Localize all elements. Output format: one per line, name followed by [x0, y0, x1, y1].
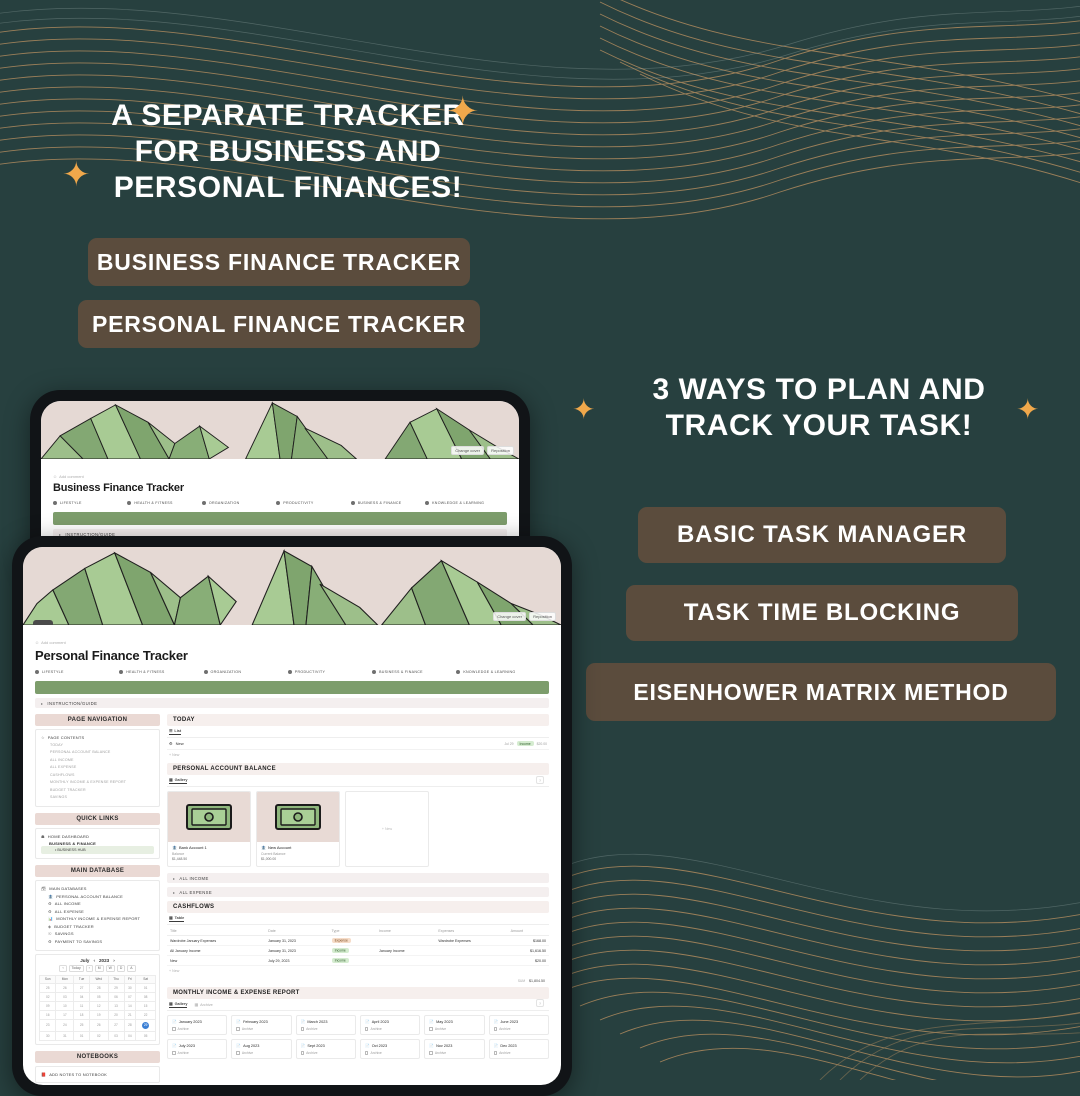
comment-icon: ☺ [53, 474, 57, 479]
checkbox-icon[interactable] [494, 1027, 498, 1031]
cal-view-week[interactable]: W [106, 965, 115, 972]
db-link-monthly-report[interactable]: 📊 MONTHLY INCOME & EXPENSE REPORT [41, 915, 154, 923]
cell-amount: $168.00 [508, 936, 549, 946]
month-report-card-title: 📄May 2023 [429, 1019, 479, 1024]
month-report-card-title: 📄July 2023 [172, 1043, 222, 1048]
calendar-day-cell[interactable]: 29 [136, 1019, 156, 1031]
calendar-day-cell[interactable]: 14 [124, 1001, 136, 1010]
quick-link-home-dashboard[interactable]: ☗ HOME DASHBOARD [41, 833, 154, 841]
bullet-icon [202, 501, 206, 505]
section-header-today: TODAY [167, 714, 549, 726]
topnav-item[interactable]: HEALTH & FITNESS [127, 501, 201, 505]
bullet-icon [119, 670, 123, 674]
table-row[interactable]: All January Income January 31, 2023 Inco… [167, 946, 549, 956]
month-report-card[interactable]: 📄April 2023Archive [360, 1015, 420, 1035]
topnav-item[interactable]: ORGANIZATION [202, 501, 276, 505]
money-icon [257, 792, 339, 842]
document-icon: 📄 [494, 1043, 499, 1048]
weekday-wed: Wed [89, 975, 108, 983]
list-icon: ☰ [169, 728, 172, 733]
document-icon: 📄 [172, 1043, 177, 1048]
calendar-week-row: 02030405060708 [40, 992, 156, 1001]
cover-image-business: Change cover Reposition [41, 401, 519, 459]
calendar-day-cell[interactable]: 01 [136, 983, 156, 992]
month-report-card[interactable]: 📄July 2023Archive [167, 1039, 227, 1059]
today-row-tag: Income [517, 741, 534, 746]
cashflows-sum: SUM $1,804.50 [167, 976, 549, 983]
checkbox-icon[interactable] [301, 1027, 305, 1031]
account-card-title-row: 🏦 New Account [261, 845, 335, 850]
calendar-day-cell[interactable]: 26 [56, 983, 74, 992]
db-link-all-income[interactable]: ♻ ALL INCOME [41, 900, 154, 908]
cell-title: All January Income [167, 946, 265, 956]
calendar-day-cell[interactable]: 19 [89, 1010, 108, 1019]
calendar-day-cell[interactable]: 27 [74, 983, 90, 992]
document-icon: 📄 [236, 1019, 241, 1024]
cover-tools-business[interactable]: Change cover Reposition [451, 446, 514, 455]
chevron-right-icon: ▸ [41, 701, 43, 706]
cell-income [376, 936, 435, 946]
checkbox-icon[interactable] [365, 1051, 369, 1055]
cal-view-month[interactable]: M [95, 965, 104, 972]
transfer-icon: ♻ [48, 938, 52, 946]
month-report-card-title: 📄January 2023 [172, 1019, 222, 1024]
topnav-item-productivity[interactable]: PRODUCTIVITY [288, 670, 372, 674]
cell-expenses [435, 956, 507, 966]
instruction-guide-toggle-personal[interactable]: ▸ INSTRUCTION/GUIDE [35, 698, 549, 708]
calendar-day-cell[interactable]: 02 [89, 1031, 108, 1040]
quick-link-business-finance[interactable]: BUSINESS & FINANCE [41, 841, 154, 846]
topnav-personal[interactable]: LIFESTYLE HEALTH & FITNESS ORGANIZATION … [35, 670, 549, 674]
cal-today[interactable]: Today [69, 965, 84, 972]
quick-links-card: ☗ HOME DASHBOARD BUSINESS & FINANCE • BU… [35, 828, 160, 859]
sparkle-icon: ✦ [1016, 396, 1039, 424]
topnav-business[interactable]: LIFESTYLE HEALTH & FITNESS ORGANIZATION … [53, 501, 507, 505]
bullet-icon [288, 670, 292, 674]
col-expenses[interactable]: Expenses [435, 927, 507, 936]
document-icon: 📄 [301, 1019, 306, 1024]
document-icon: 📄 [365, 1019, 370, 1024]
document-icon: 📄 [365, 1043, 370, 1048]
notebooks-card: 📕 ADD NOTES TO NOTEBOOK [35, 1066, 160, 1084]
page-icon: ⚙ [169, 741, 173, 746]
page-link-budget-tracker[interactable]: BUDGET TRACKER [41, 787, 154, 795]
calendar-day-cell[interactable]: 15 [136, 1001, 156, 1010]
col-amount[interactable]: Amount [508, 927, 549, 936]
view-tab-table[interactable]: ▦ Table [169, 915, 184, 922]
account-balance-gallery: 🏦 Bank Account 1 Balance $1,448.50 [167, 787, 549, 869]
pill-business-finance-tracker[interactable]: BUSINESS FINANCE TRACKER [88, 238, 470, 286]
headline-right: 3 WAYS TO PLAN AND TRACK YOUR TASK! [604, 372, 1034, 444]
db-link-personal-account-balance[interactable]: 🏦 PERSONAL ACCOUNT BALANCE [41, 893, 154, 901]
col-type[interactable]: Type [329, 927, 376, 936]
account-card-value: $1,448.50 [172, 857, 246, 861]
month-report-card[interactable]: 📄Nov 2023Archive [424, 1039, 484, 1059]
calendar-day-cell[interactable]: 26 [89, 1019, 108, 1031]
weekday-tue: Tue [74, 975, 90, 983]
db-link-budget-tracker[interactable]: ◈ BUDGET TRACKER [41, 923, 154, 931]
calendar-day-cell[interactable]: 08 [136, 992, 156, 1001]
section-header-monthly-report: MONTHLY INCOME & EXPENSE REPORT [167, 987, 549, 999]
cal-next[interactable]: › [86, 965, 93, 972]
sum-value: $1,804.50 [529, 979, 545, 983]
calendar-day-cell[interactable]: 09 [40, 1001, 56, 1010]
month-report-card[interactable]: 📄Dec 2023Archive [489, 1039, 549, 1059]
weekday-thu: Thu [108, 975, 124, 983]
calendar-day-cell[interactable]: 05 [89, 992, 108, 1001]
month-report-archive-checkbox[interactable]: Archive [429, 1027, 479, 1031]
table-row[interactable]: New July 29, 2023 Income $20.00 [167, 956, 549, 966]
table-icon: ▦ [169, 915, 173, 920]
archive-icon: ▦ [194, 1002, 198, 1007]
account-card-value: $1,000.00 [261, 857, 335, 861]
bank-icon: 🏦 [261, 845, 266, 850]
cell-date: January 31, 2023 [265, 936, 329, 946]
page-link-monthly-report[interactable]: MONTHLY INCOME & EXPENSE REPORT [41, 779, 154, 787]
notebooks-header: NOTEBOOKS [35, 1051, 160, 1063]
topnav-item-knowledge-learning[interactable]: KNOWLEDGE & LEARNING [456, 670, 549, 674]
account-card[interactable]: 🏦 New Account Current Balance $1,000.00 [256, 791, 340, 867]
topnav-item-business-finance[interactable]: BUSINESS & FINANCE [372, 670, 456, 674]
bullet-icon [456, 670, 460, 674]
calendar-day-cell[interactable]: 31 [56, 1031, 74, 1040]
calendar-day-cell[interactable]: 28 [89, 983, 108, 992]
calendar-day-cell[interactable]: 13 [108, 1001, 124, 1010]
month-report-card-title: 📄February 2023 [236, 1019, 286, 1024]
checkbox-icon[interactable] [365, 1027, 369, 1031]
today-row[interactable]: ⚙ New Jul 29 Income $20.00 [167, 738, 549, 750]
view-tabs-today[interactable]: ☰ List [167, 728, 549, 738]
checkbox-icon[interactable] [236, 1051, 240, 1055]
calendar-day-cell[interactable]: 24 [56, 1019, 74, 1031]
cell-type: Expense [329, 936, 376, 946]
month-report-card[interactable]: 📄May 2023Archive [424, 1015, 484, 1035]
help-button[interactable]: ? [536, 999, 544, 1007]
calendar-controls[interactable]: ‹ Today › M W D A [39, 965, 156, 972]
document-icon: 📄 [301, 1043, 306, 1048]
calendar-day-cell[interactable]: 05 [136, 1031, 156, 1040]
cell-type: Income [329, 956, 376, 966]
month-report-archive-checkbox[interactable]: Archive [172, 1051, 222, 1055]
db-link-payment-to-savings[interactable]: ♻ PAYMENT TO SAVINGS [41, 938, 154, 946]
month-report-card[interactable]: 📄Aug 2023Archive [231, 1039, 291, 1059]
month-report-card[interactable]: 📄Oct 2023Archive [360, 1039, 420, 1059]
calendar-day-cell[interactable]: 12 [89, 1001, 108, 1010]
bullet-icon [35, 670, 39, 674]
cal-prev[interactable]: ‹ [59, 965, 66, 972]
reposition-button[interactable]: Reposition [529, 612, 556, 621]
account-card-title-row: 🏦 Bank Account 1 [172, 845, 246, 850]
calendar-day-cell[interactable]: 03 [108, 1031, 124, 1040]
col-title[interactable]: Title [167, 927, 265, 936]
page-link-all-expense[interactable]: ALL EXPENSE [41, 764, 154, 772]
cal-view-agenda[interactable]: A [127, 965, 135, 972]
table-row[interactable]: Wardrobe January Expenses January 31, 20… [167, 936, 549, 946]
view-tabs-account-balance[interactable]: ▦ Gallery ? [167, 777, 549, 787]
database-icon: 🗃 [41, 885, 46, 893]
weekday-sat: Sat [136, 975, 156, 983]
calendar-week-row: 16171819202122 [40, 1010, 156, 1019]
month-report-archive-checkbox[interactable]: Archive [365, 1027, 415, 1031]
cell-expenses [435, 946, 507, 956]
page-link-personal-account-balance[interactable]: PERSONAL ACCOUNT BALANCE [41, 749, 154, 757]
calendar-day-cell[interactable]: 23 [40, 1019, 56, 1031]
calendar-day-cell[interactable]: 02 [40, 992, 56, 1001]
month-report-card[interactable]: 📄June 2023Archive [489, 1015, 549, 1035]
green-divider-bar [35, 681, 549, 694]
view-tab-gallery[interactable]: ▦ Gallery [169, 777, 187, 784]
month-report-archive-checkbox[interactable]: Archive [301, 1051, 351, 1055]
bullet-icon [127, 501, 131, 505]
db-link-savings[interactable]: ☉ SAVINGS [41, 930, 154, 938]
sparkle-icon: ✦ [446, 92, 480, 132]
month-report-card-title: 📄Nov 2023 [429, 1043, 479, 1048]
sparkle-icon: ✦ [572, 396, 595, 424]
calendar-next-button[interactable]: › [113, 958, 115, 963]
today-row-amount: $20.00 [537, 742, 547, 746]
db-link-all-expense[interactable]: ♻ ALL EXPENSE [41, 908, 154, 916]
calendar-day-cell[interactable]: 10 [56, 1001, 74, 1010]
bullet-icon [276, 501, 280, 505]
home-icon: ☗ [41, 833, 45, 841]
calendar-day-cell[interactable]: 17 [56, 1010, 74, 1019]
page-link-cashflows[interactable]: CASHFLOWS [41, 772, 154, 780]
calendar-day-cell[interactable]: 01 [74, 1031, 90, 1040]
notebook-icon: 📕 [41, 1071, 46, 1079]
month-report-card[interactable]: 📄March 2023Archive [296, 1015, 356, 1035]
tablet-mockup-personal: Change cover Reposition ☺ Add comment Pe… [12, 536, 572, 1096]
gallery-icon: ▦ [169, 777, 173, 782]
topnav-item-health-fitness[interactable]: HEALTH & FITNESS [119, 670, 203, 674]
main-content: TODAY ☰ List ⚙ New Jul 29 In [167, 714, 549, 1083]
calendar-day-cell[interactable]: 20 [108, 1010, 124, 1019]
bullet-icon [204, 670, 208, 674]
bullet-icon [372, 670, 376, 674]
calendar-day-cell[interactable]: 29 [108, 983, 124, 992]
month-report-archive-checkbox[interactable]: Archive [494, 1051, 544, 1055]
calendar-day-cell[interactable]: 07 [124, 992, 136, 1001]
topnav-item[interactable]: LIFESTYLE [53, 501, 127, 505]
toggle-all-income[interactable]: ▸ ALL INCOME [167, 873, 549, 883]
calendar-month: July [80, 958, 89, 963]
calendar-day-cell[interactable]: 28 [124, 1019, 136, 1031]
bullet-icon [53, 501, 57, 505]
account-card[interactable]: 🏦 Bank Account 1 Balance $1,448.50 [167, 791, 251, 867]
sum-label: SUM [518, 979, 525, 983]
bank-icon: 🏦 [48, 893, 53, 901]
calendar-week-row: 23242526272829 [40, 1019, 156, 1031]
section-header-cashflows: CASHFLOWS [167, 901, 549, 913]
topnav-item[interactable]: KNOWLEDGE & LEARNING [425, 501, 507, 505]
calendar-widget[interactable]: July ‹ 2023 › ‹ Today › M W [35, 954, 160, 1045]
chevron-right-icon: ▸ [173, 890, 175, 895]
topnav-item[interactable]: BUSINESS & FINANCE [351, 501, 425, 505]
cell-type: Income [329, 946, 376, 956]
today-new-button[interactable]: + New [167, 750, 549, 760]
cover-image-personal: Change cover Reposition [23, 547, 561, 625]
weekday-sun: Sun [40, 975, 56, 983]
pill-personal-finance-tracker[interactable]: PERSONAL FINANCE TRACKER [78, 300, 480, 348]
calendar-day-cell[interactable]: 04 [124, 1031, 136, 1040]
cashflows-new-button[interactable]: + New [167, 966, 549, 976]
view-tab-list[interactable]: ☰ List [169, 728, 181, 735]
checkbox-icon[interactable] [494, 1051, 498, 1055]
month-report-card-title: 📄June 2023 [494, 1019, 544, 1024]
month-report-archive-checkbox[interactable]: Archive [429, 1051, 479, 1055]
document-icon: 📄 [429, 1019, 434, 1024]
weekday-mon: Mon [56, 975, 74, 983]
calendar-week-row: 09101112131415 [40, 1001, 156, 1010]
checkbox-icon[interactable] [301, 1051, 305, 1055]
page-link-all-income[interactable]: ALL INCOME [41, 757, 154, 765]
report-icon: 📊 [48, 915, 53, 923]
calendar-prev-button[interactable]: ‹ [93, 958, 95, 963]
calendar-year: 2023 [99, 958, 109, 963]
calendar-day-cell[interactable]: 03 [56, 992, 74, 1001]
document-icon: 📄 [494, 1019, 499, 1024]
month-report-card-title: 📄Aug 2023 [236, 1043, 286, 1048]
month-report-card-title: 📄March 2023 [301, 1019, 351, 1024]
money-icon [168, 792, 250, 842]
help-button[interactable]: ? [536, 776, 544, 784]
add-notes-to-notebook[interactable]: 📕 ADD NOTES TO NOTEBOOK [41, 1071, 154, 1079]
change-cover-button[interactable]: Change cover [493, 612, 526, 621]
calendar-day-cell[interactable]: 06 [108, 992, 124, 1001]
bullet-icon [351, 501, 355, 505]
month-report-card[interactable]: 📄January 2023Archive [167, 1015, 227, 1035]
today-row-title: New [176, 741, 184, 746]
cover-tools-personal[interactable]: Change cover Reposition [493, 612, 556, 621]
view-tab-gallery[interactable]: ▦ Gallery [169, 1001, 187, 1008]
checkbox-icon[interactable] [172, 1027, 176, 1031]
gallery-icon: ▦ [169, 1001, 173, 1006]
month-report-archive-checkbox[interactable]: Archive [236, 1051, 286, 1055]
quick-link-business-hub[interactable]: • BUSINESS HUB [41, 846, 154, 854]
month-report-archive-checkbox[interactable]: Archive [236, 1027, 286, 1031]
cell-expenses: Wardrobe Expenses [435, 936, 507, 946]
checkbox-icon[interactable] [172, 1051, 176, 1055]
pill-task-time-blocking[interactable]: TASK TIME BLOCKING [626, 585, 1018, 641]
document-icon: 📄 [236, 1043, 241, 1048]
green-divider-bar [53, 512, 507, 525]
calendar-day-cell[interactable]: 21 [124, 1010, 136, 1019]
calendar-day-cell[interactable]: 04 [74, 992, 90, 1001]
calendar-day-cell[interactable]: 30 [124, 983, 136, 992]
quick-links-header: QUICK LINKS [35, 813, 160, 825]
add-comment-business[interactable]: ☺ Add comment [53, 474, 507, 479]
calendar-day-cell[interactable]: 11 [74, 1001, 90, 1010]
month-report-archive-checkbox[interactable]: Archive [301, 1027, 351, 1031]
main-database-card: 🗃 MAIN DATABASES 🏦 PERSONAL ACCOUNT BALA… [35, 880, 160, 951]
checkbox-icon[interactable] [429, 1051, 433, 1055]
monthly-report-gallery: 📄January 2023Archive📄February 2023Archiv… [167, 1011, 549, 1059]
month-report-card-title: 📄Dec 2023 [494, 1043, 544, 1048]
bank-icon: 🏦 [172, 845, 177, 850]
account-card-field: Current Balance [261, 852, 335, 856]
document-icon: 📄 [429, 1043, 434, 1048]
calendar-week-row: 30310102030405 [40, 1031, 156, 1040]
calendar-day-cell[interactable]: 25 [40, 983, 56, 992]
pill-eisenhower-matrix-method[interactable]: EISENHOWER MATRIX METHOD [586, 663, 1056, 721]
calendar-day-cell[interactable]: 16 [40, 1010, 56, 1019]
cell-title: New [167, 956, 265, 966]
cal-view-day[interactable]: D [117, 965, 125, 972]
checkbox-icon[interactable] [429, 1027, 433, 1031]
month-report-archive-checkbox[interactable]: Archive [494, 1027, 544, 1031]
account-new-card-button[interactable]: + New [345, 791, 429, 867]
expense-icon: ♻ [48, 908, 52, 916]
headline-left: A SEPARATE TRACKER FOR BUSINESS AND PERS… [88, 98, 488, 206]
month-report-card-title: 📄Oct 2023 [365, 1043, 415, 1048]
sidebar: PAGE NAVIGATION ☆ PAGE CONTENTS TODAY PE… [35, 714, 160, 1083]
month-report-card[interactable]: 📄Sept 2023Archive [296, 1039, 356, 1059]
page-navigation-header: PAGE NAVIGATION [35, 714, 160, 726]
toggle-all-expense[interactable]: ▸ ALL EXPENSE [167, 887, 549, 897]
view-tabs-monthly-report[interactable]: ▦ Gallery ▦ Archive ? [167, 1001, 549, 1011]
month-report-archive-checkbox[interactable]: Archive [365, 1051, 415, 1055]
cell-amount: $20.00 [508, 956, 549, 966]
comment-icon: ☺ [35, 640, 39, 645]
topnav-item[interactable]: PRODUCTIVITY [276, 501, 350, 505]
col-income[interactable]: Income [376, 927, 435, 936]
account-card-field: Balance [172, 852, 246, 856]
calendar-day-cell[interactable]: 18 [74, 1010, 90, 1019]
view-tabs-cashflows[interactable]: ▦ Table [167, 915, 549, 925]
topnav-item-lifestyle[interactable]: LIFESTYLE [35, 670, 119, 674]
page-navigation-card: ☆ PAGE CONTENTS TODAY PERSONAL ACCOUNT B… [35, 729, 160, 807]
calendar-day-cell[interactable]: 27 [108, 1019, 124, 1031]
cell-title: Wardrobe January Expenses [167, 936, 265, 946]
add-comment-personal[interactable]: ☺ Add comment [35, 640, 549, 645]
calendar-header: July ‹ 2023 › [39, 958, 156, 963]
bullet-icon [425, 501, 429, 505]
page-emoji-icon[interactable] [33, 620, 53, 625]
main-database-header: MAIN DATABASE [35, 865, 160, 877]
month-report-card[interactable]: 📄February 2023Archive [231, 1015, 291, 1035]
pill-basic-task-manager[interactable]: BASIC TASK MANAGER [638, 507, 1006, 563]
reposition-button[interactable]: Reposition [487, 446, 514, 455]
sparkle-icon: ✦ [62, 158, 91, 192]
calendar-day-cell[interactable]: 22 [136, 1010, 156, 1019]
checkbox-icon[interactable] [236, 1027, 240, 1031]
page-link-savings[interactable]: SAVINGS [41, 794, 154, 802]
cell-income: January Income [376, 946, 435, 956]
coin-icon: ◈ [48, 923, 51, 931]
view-tab-archive[interactable]: ▦ Archive [194, 1001, 212, 1008]
page-contents-root[interactable]: ☆ PAGE CONTENTS [41, 734, 154, 742]
chevron-right-icon: ▸ [173, 876, 175, 881]
cashflows-table: Title Date Type Income Expenses Amount W… [167, 927, 549, 966]
cell-income [376, 956, 435, 966]
tablet-screen-personal: Change cover Reposition ☺ Add comment Pe… [23, 547, 561, 1085]
bookmark-icon: ☆ [41, 734, 45, 742]
today-row-date: Jul 29 [504, 742, 513, 746]
section-header-account-balance: PERSONAL ACCOUNT BALANCE [167, 763, 549, 775]
piggybank-icon: ☉ [48, 930, 52, 938]
month-report-card-title: 📄April 2023 [365, 1019, 415, 1024]
calendar-week-row: 25262728293001 [40, 983, 156, 992]
page-link-today[interactable]: TODAY [41, 742, 154, 750]
calendar-day-cell[interactable]: 25 [74, 1019, 90, 1031]
income-icon: ♻ [48, 900, 52, 908]
col-date[interactable]: Date [265, 927, 329, 936]
topnav-item-organization[interactable]: ORGANIZATION [204, 670, 288, 674]
month-report-card-title: 📄Sept 2023 [301, 1043, 351, 1048]
calendar-day-cell[interactable]: 30 [40, 1031, 56, 1040]
change-cover-button[interactable]: Change cover [451, 446, 484, 455]
main-databases-root[interactable]: 🗃 MAIN DATABASES [41, 885, 154, 893]
month-report-archive-checkbox[interactable]: Archive [172, 1027, 222, 1031]
